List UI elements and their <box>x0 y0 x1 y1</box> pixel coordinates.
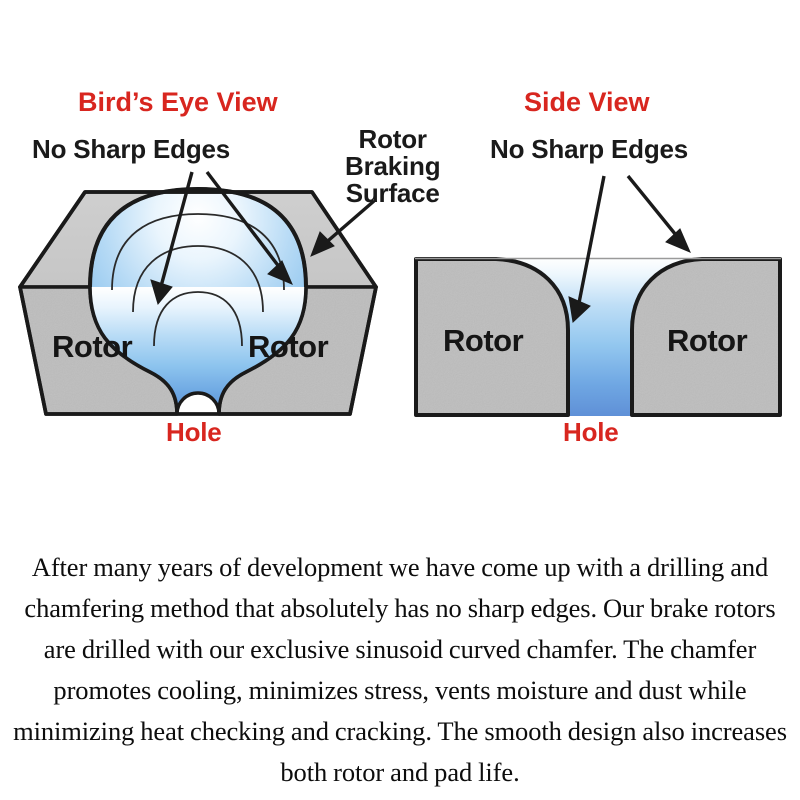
page-root: Bird’s Eye View Side View No Sharp Edges… <box>0 0 800 800</box>
no-sharp-edges-label-right: No Sharp Edges <box>490 136 688 163</box>
rotor-label-sideview-right: Rotor <box>667 325 747 357</box>
hole-label-sideview: Hole <box>563 419 619 446</box>
side-view-title: Side View <box>524 88 650 116</box>
rotor-label-sideview-left: Rotor <box>443 325 523 357</box>
no-sharp-edges-label-left: No Sharp Edges <box>32 136 230 163</box>
birds-eye-block <box>20 189 376 414</box>
arrow-side-no-sharp-edges-right <box>628 176 690 252</box>
rotor-braking-surface-label: Rotor Braking Surface <box>345 126 440 207</box>
rotor-label-birdseye-left: Rotor <box>52 331 132 363</box>
hole-label-birdseye: Hole <box>166 419 222 446</box>
diagram-area: Bird’s Eye View Side View No Sharp Edges… <box>0 0 800 470</box>
birds-eye-view-title: Bird’s Eye View <box>78 88 278 116</box>
rotor-chamfer-illustration <box>0 0 800 470</box>
rotor-label-birdseye-right: Rotor <box>248 331 328 363</box>
description-paragraph: After many years of development we have … <box>0 547 800 793</box>
